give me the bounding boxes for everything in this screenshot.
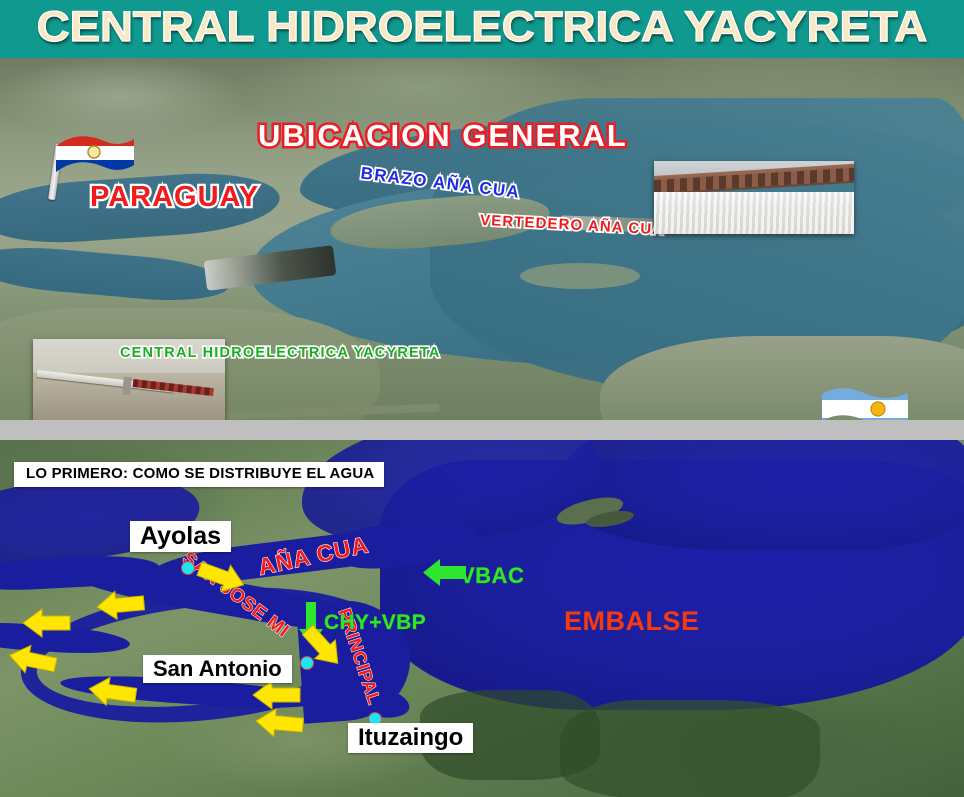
page-title: CENTRAL HIDROELECTRICA YACYRETA	[0, 0, 964, 56]
top-subtitle: UBICACION GENERAL	[258, 114, 718, 158]
svg-text:CENTRAL HIDROELECTRICA YACYRET: CENTRAL HIDROELECTRICA YACYRETA	[120, 345, 441, 361]
poster-root: CENTRAL HIDROELECTRICA YACYRETA UBICACIO…	[0, 0, 964, 797]
label-vbac: VBAC	[458, 558, 568, 592]
paraguay-flag-emblem	[88, 146, 100, 158]
argentina-flag	[820, 380, 920, 420]
vbac-inflow-arrow	[422, 558, 466, 588]
outflow-arrow-g	[254, 706, 304, 740]
outflow-arrow-b	[95, 588, 145, 622]
satellite-imagery-bottom	[0, 440, 964, 797]
argentina-flag-sun	[871, 402, 885, 416]
outflow-arrow-e	[86, 674, 138, 710]
place-label-san-antonio: San Antonio	[143, 655, 292, 683]
label-paraguay: PARAGUAY	[88, 176, 298, 218]
bottom-panel-heading: LO PRIMERO: COMO SE DISTRIBUYE EL AGUA	[14, 462, 384, 487]
embalse-upper-lobe	[560, 440, 964, 550]
ana-cua-spillway-photo	[654, 161, 854, 234]
bottom-satellite-panel: LO PRIMERO: COMO SE DISTRIBUYE EL AGUA A…	[0, 440, 964, 797]
panel-divider	[0, 420, 964, 440]
svg-text:VERTEDERO AÑA CUA: VERTEDERO AÑA CUA	[480, 211, 665, 239]
marker-ayolas	[181, 561, 195, 575]
outflow-arrow-c	[22, 608, 70, 638]
svg-text:PARAGUAY: PARAGUAY	[90, 181, 259, 213]
svg-text:UBICACION GENERAL: UBICACION GENERAL	[258, 118, 628, 153]
island-small	[520, 263, 640, 289]
marker-san-antonio	[300, 656, 314, 670]
place-label-ayolas: Ayolas	[130, 521, 231, 552]
title-banner: CENTRAL HIDROELECTRICA YACYRETA	[0, 0, 964, 58]
label-chy-vbp: CHY+VBP	[322, 605, 442, 637]
place-label-ituzaingo: Ituzaingo	[348, 723, 473, 753]
spillway-discharge	[654, 192, 854, 234]
label-embalse: EMBALSE	[562, 602, 752, 642]
label-central-hidroelectrica-yacyreta: CENTRAL HIDROELECTRICA YACYRETA	[118, 338, 458, 366]
top-satellite-panel: UBICACION GENERAL PARAGUAY	[0, 58, 964, 420]
svg-text:EMBALSE: EMBALSE	[564, 606, 700, 636]
svg-text:VBAC: VBAC	[460, 563, 524, 588]
svg-text:CHY+VBP: CHY+VBP	[324, 611, 426, 634]
